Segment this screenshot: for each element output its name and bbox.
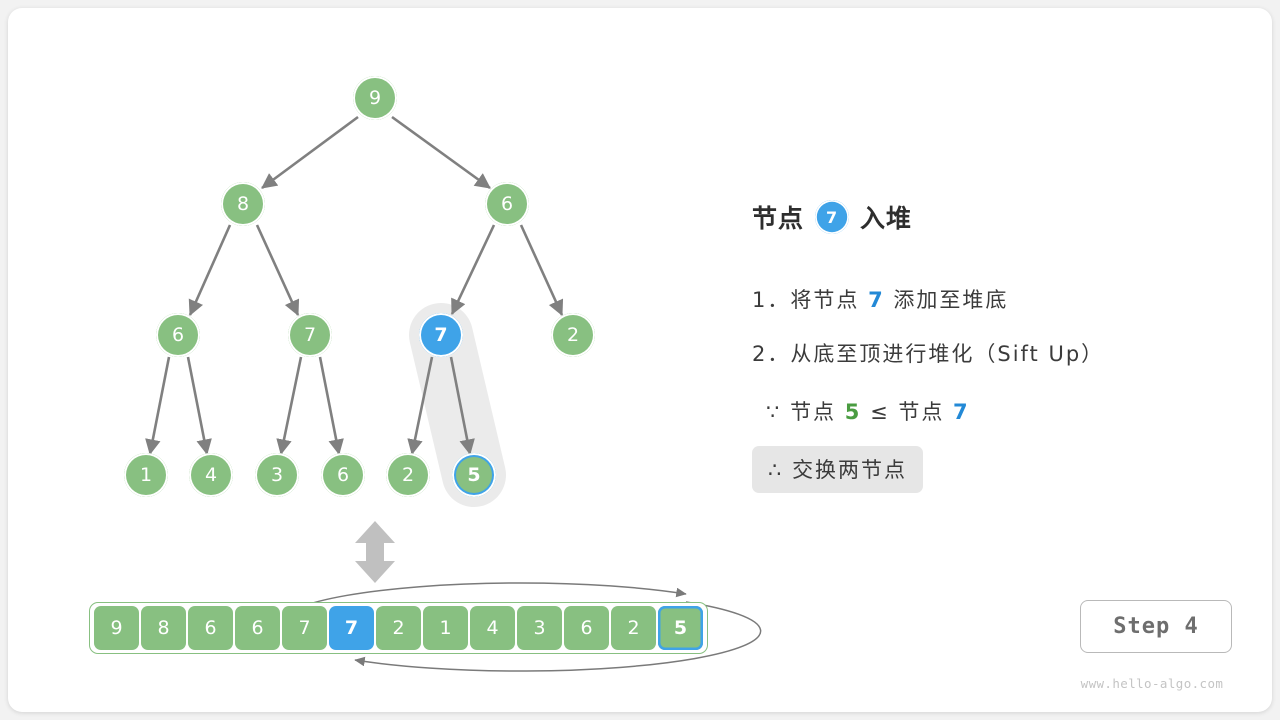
footer-url: www.hello-algo.com	[1072, 676, 1232, 691]
tree-leaf-2[interactable]: 2	[386, 453, 430, 497]
up-down-arrow-icon	[355, 521, 395, 583]
tree-leaf-3[interactable]: 3	[255, 453, 299, 497]
tree-node-9[interactable]: 9	[353, 76, 397, 120]
conclusion-text: 交换两节点	[792, 458, 907, 482]
tree-node-7-l3[interactable]: 7	[288, 313, 332, 357]
edge-7-3	[281, 357, 301, 454]
panel-title-prefix: 节点	[752, 199, 804, 235]
screenshot-root: 9 8 6 6 7 7 2 1 4 3 6 2 5 9 8 6 6 7 7 2 …	[0, 0, 1280, 720]
step-item-2: 2．从底至顶进行堆化（Sift Up）	[752, 338, 1104, 368]
edge-6-7b	[452, 225, 494, 314]
tree-node-2-l3[interactable]: 2	[551, 313, 595, 357]
reason-text-b: 节点	[898, 400, 944, 424]
tree-leaf-5-target[interactable]: 5	[452, 453, 496, 497]
tree-leaf-6[interactable]: 6	[321, 453, 365, 497]
reason-value-b: 7	[953, 400, 970, 424]
array-container: 9 8 6 6 7 7 2 1 4 3 6 2 5	[89, 602, 708, 654]
therefore-symbol: ∴	[768, 458, 783, 482]
array-cell-4[interactable]: 7	[282, 606, 327, 650]
tree-node-6-right[interactable]: 6	[485, 182, 529, 226]
step-1-prefix: 1．将节点	[752, 288, 859, 312]
array-cell-8[interactable]: 4	[470, 606, 515, 650]
edge-8-6	[190, 225, 230, 315]
explanation-panel: 节点 7 入堆 1．将节点 7 添加至堆底 2．从底至顶进行堆化（Sift Up…	[752, 196, 1222, 238]
tree-node-8[interactable]: 8	[221, 182, 265, 226]
edge-9-8	[262, 117, 358, 188]
array-cell-2[interactable]: 6	[188, 606, 233, 650]
reason-operator: ≤	[870, 400, 890, 424]
conclusion-box: ∴ 交换两节点	[752, 446, 923, 493]
array-cell-7[interactable]: 1	[423, 606, 468, 650]
step-badge: Step 4	[1080, 600, 1232, 653]
array-cell-10[interactable]: 6	[564, 606, 609, 650]
array-cell-12-target[interactable]: 5	[658, 606, 703, 650]
panel-title: 节点 7 入堆	[752, 196, 1222, 238]
reason-text-a: 节点	[790, 400, 836, 424]
edge-9-6	[392, 117, 490, 188]
tree-leaf-4[interactable]: 4	[189, 453, 233, 497]
step-item-1: 1．将节点 7 添加至堆底	[752, 284, 1008, 314]
edge-6-4	[188, 357, 207, 454]
step-1-value: 7	[868, 288, 885, 312]
reason-line: ∵ 节点 5 ≤ 节点 7	[766, 396, 970, 426]
edge-7-6b	[320, 357, 339, 454]
array-cell-9[interactable]: 3	[517, 606, 562, 650]
array-cell-1[interactable]: 8	[141, 606, 186, 650]
array-cell-6[interactable]: 2	[376, 606, 421, 650]
array-cell-5-selected[interactable]: 7	[329, 606, 374, 650]
tree-edges	[150, 117, 562, 454]
edge-6-2	[521, 225, 562, 315]
panel-title-suffix: 入堆	[860, 199, 912, 235]
panel-title-node-badge: 7	[815, 200, 849, 234]
array-cell-3[interactable]: 6	[235, 606, 280, 650]
tree-node-7-selected[interactable]: 7	[419, 313, 463, 357]
reason-value-a: 5	[845, 400, 862, 424]
edge-6-1	[150, 357, 169, 454]
tree-leaf-1[interactable]: 1	[124, 453, 168, 497]
step-2-text: 2．从底至顶进行堆化（Sift Up）	[752, 342, 1104, 366]
edge-8-7	[257, 225, 298, 315]
array-cell-11[interactable]: 2	[611, 606, 656, 650]
tree-node-6-l3[interactable]: 6	[156, 313, 200, 357]
array-cell-0[interactable]: 9	[94, 606, 139, 650]
step-1-suffix: 添加至堆底	[893, 288, 1008, 312]
because-symbol: ∵	[766, 400, 781, 424]
